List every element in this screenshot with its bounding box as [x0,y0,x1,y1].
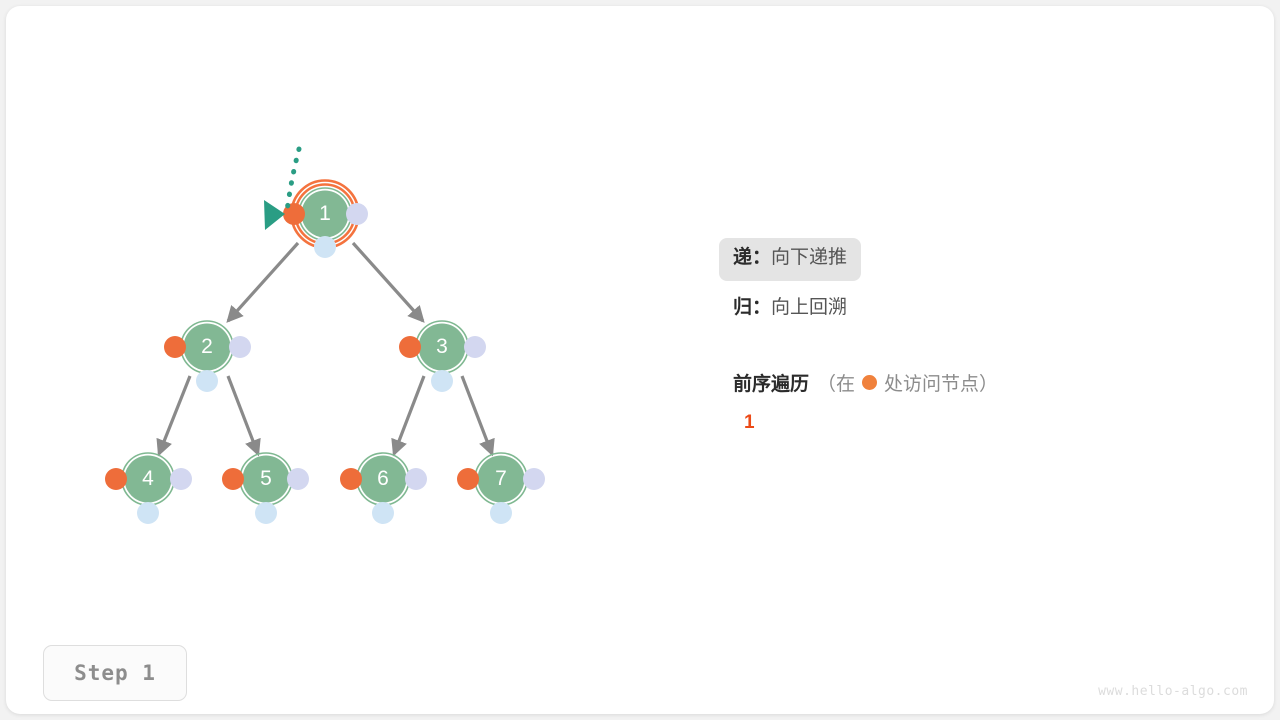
traversal-title-suffix: 处访问节点） [884,369,998,396]
node-2-label: 2 [179,319,235,375]
step-badge: Step 1 [43,645,187,701]
legend-backtrack-value: 向上回溯 [771,297,847,320]
traversal-title-label: 前序遍历 [733,369,809,396]
legend-recurse-value: 向下递推 [771,247,847,268]
traversal-title-prefix: （在 [817,369,855,396]
node-1-label: 1 [297,186,353,242]
traversal-title: 前序遍历 （在 处访问节点） [733,369,1233,396]
node-3-label: 3 [414,319,470,375]
step-badge-label: Step 1 [74,661,156,685]
edge-3-7 [462,376,492,454]
screenshot-canvas: 1 2 3 4 5 6 7 递：向下递推 归：向上回溯 前序遍历 （在 处访问节… [0,0,1280,720]
binary-tree-diagram [6,6,706,626]
explanation-panel: 递：向下递推 归：向上回溯 前序遍历 （在 处访问节点） 1 [733,238,1233,434]
node-4-label: 4 [120,451,176,507]
node-7-label: 7 [473,451,529,507]
legend-recurse-highlight: 递：向下递推 [719,238,861,281]
edge-1-3 [353,243,423,321]
node-6-label: 6 [355,451,411,507]
recursion-pointer-arrowhead-icon [264,200,285,230]
orange-dot-icon [862,375,877,390]
legend-recurse-key: 递： [733,247,771,268]
traversal-result-list: 1 [744,412,1233,434]
edge-2-5 [228,376,258,454]
legend-row-recurse: 递：向下递推 [733,238,1233,281]
edge-2-4 [159,376,190,454]
legend-row-backtrack: 归：向上回溯 [733,286,1233,331]
edge-1-2 [228,243,298,321]
legend-backtrack-key: 归： [733,297,771,320]
content-card: 1 2 3 4 5 6 7 递：向下递推 归：向上回溯 前序遍历 （在 处访问节… [6,6,1274,714]
node-5-label: 5 [238,451,294,507]
edge-3-6 [394,376,424,454]
watermark: www.hello-algo.com [1098,684,1248,699]
